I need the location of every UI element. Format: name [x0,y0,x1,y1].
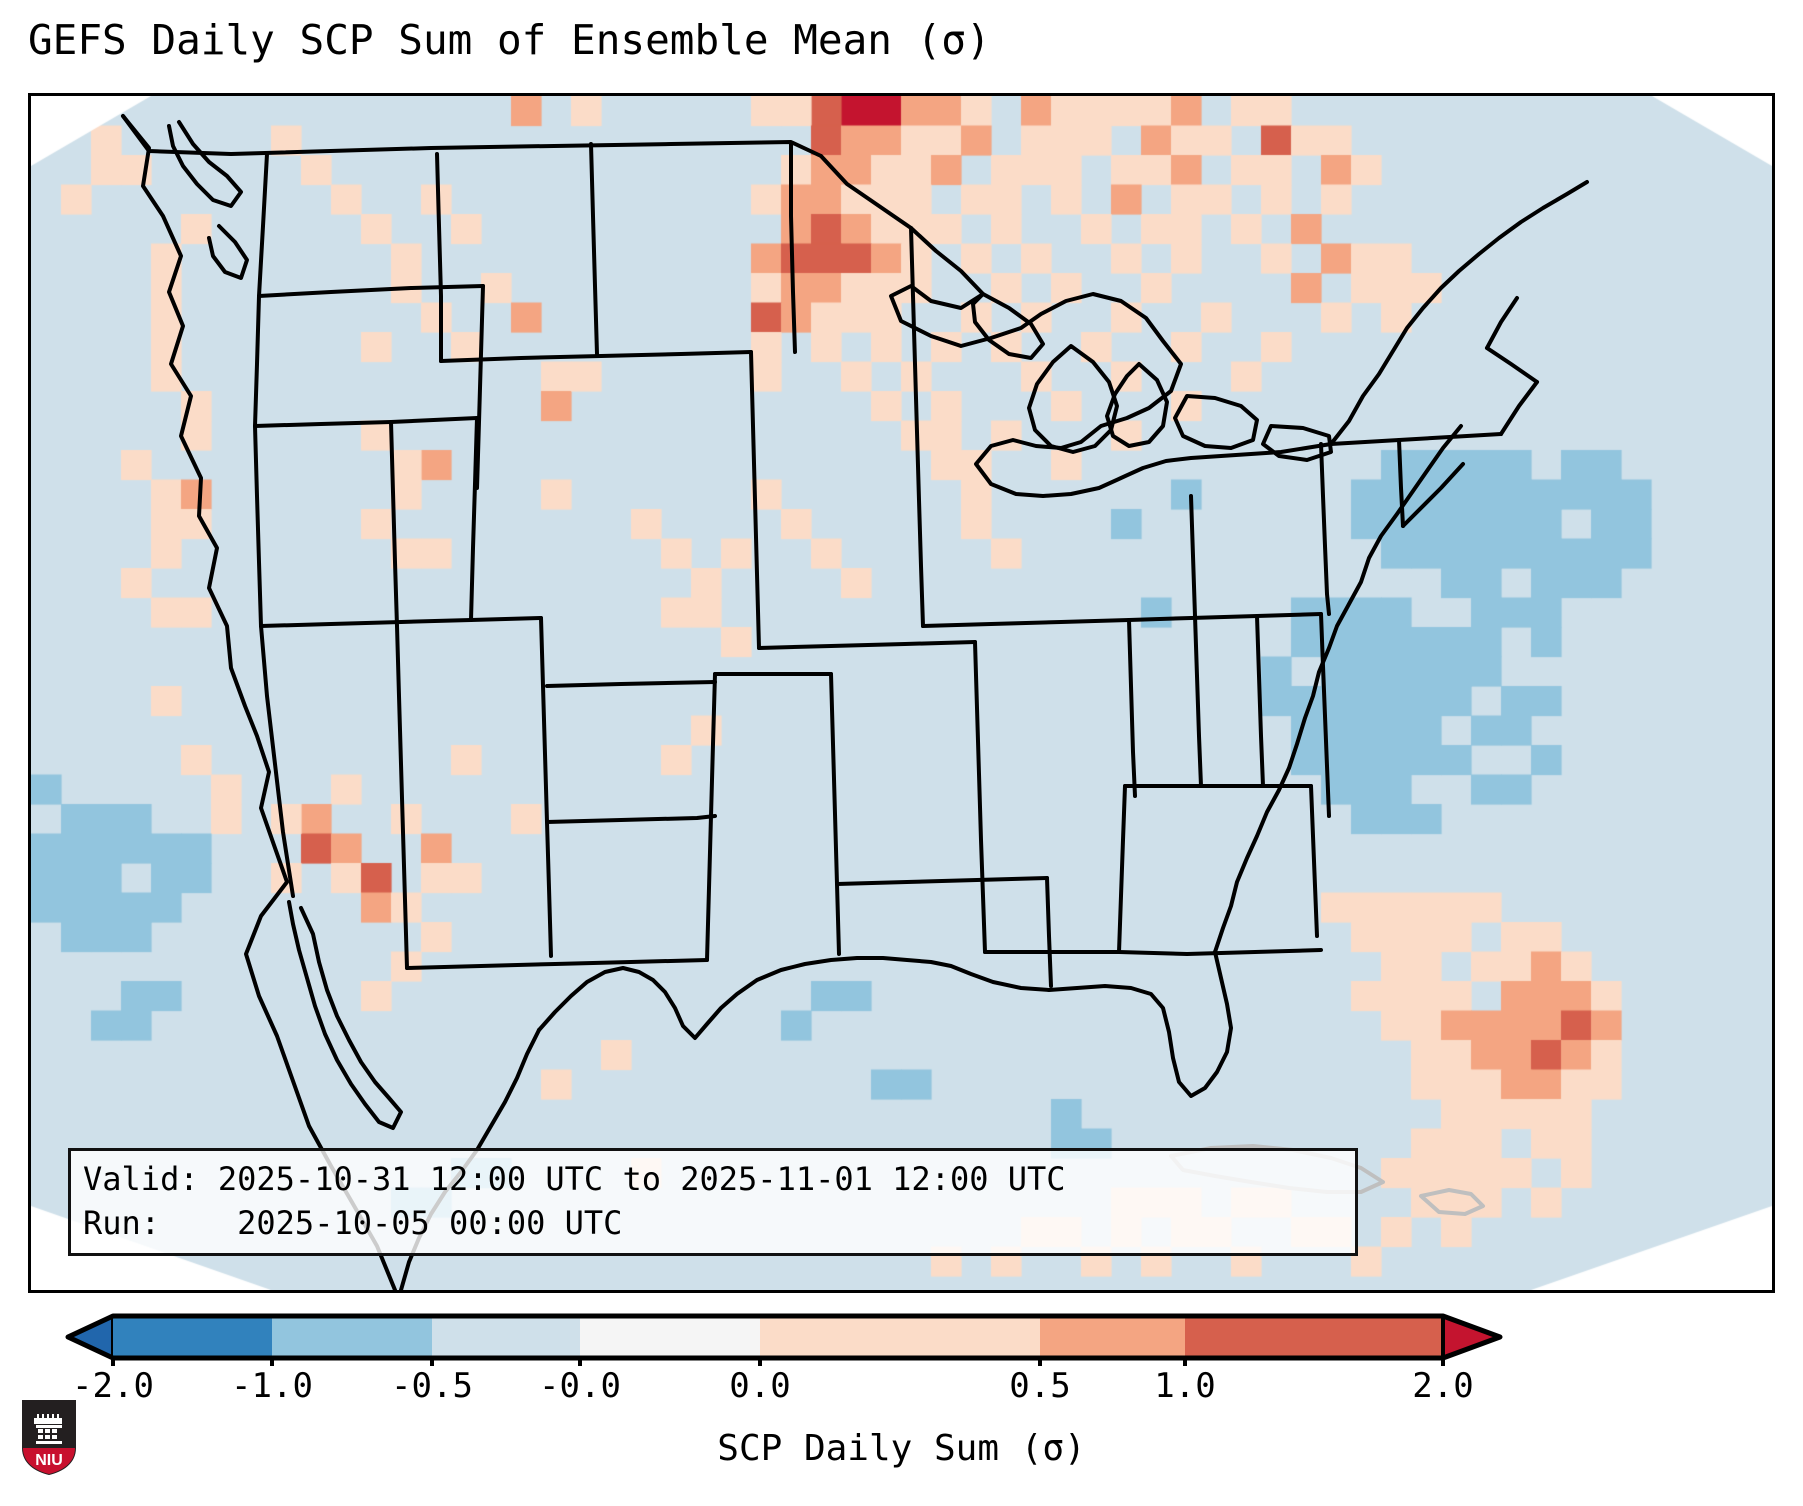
colorbar-tick-label-5: 0.5 [1009,1366,1070,1406]
colorbar-tick-label-3: -0.0 [539,1366,621,1406]
colorbar-tick-label-0: -2.0 [72,1366,154,1406]
niu-logo-text: NIU [35,1452,63,1469]
niu-logo: NIU [18,1396,80,1478]
colorbar-band-4 [580,1316,760,1358]
colorbar[interactable]: -2.0 -1.0 -0.5 -0.0 0.0 0.5 1.0 2.0 [0,1308,1803,1368]
colorbar-band-1 [113,1316,272,1358]
colorbar-band-2 [272,1316,432,1358]
page-title: GEFS Daily SCP Sum of Ensemble Mean (σ) [28,16,991,64]
colorbar-tick-label-6: 1.0 [1154,1366,1215,1406]
valid-run-infobox: Valid: 2025-10-31 12:00 UTC to 2025-11-0… [68,1148,1358,1256]
colorbar-band-5 [760,1316,1040,1358]
colorbar-band-7 [1185,1316,1443,1358]
map-plot-area [28,93,1775,1293]
colorbar-band-3 [432,1316,580,1358]
colorbar-tick-label-1: -1.0 [231,1366,313,1406]
colorbar-tick-label-7: 2.0 [1412,1366,1473,1406]
colorbar-band-6 [1040,1316,1185,1358]
map-geography-overlay [31,96,1772,1290]
colorbar-under-arrow [68,1316,113,1358]
valid-time-line: Valid: 2025-10-31 12:00 UTC to 2025-11-0… [83,1157,1343,1201]
colorbar-over-arrow [1443,1316,1500,1358]
colorbar-axis-label: SCP Daily Sum (σ) [0,1428,1803,1469]
run-time-line: Run: 2025-10-05 00:00 UTC [83,1201,1343,1245]
colorbar-tick-label-4: 0.0 [729,1366,790,1406]
colorbar-bands [68,1316,1500,1358]
colorbar-tick-label-2: -0.5 [391,1366,473,1406]
